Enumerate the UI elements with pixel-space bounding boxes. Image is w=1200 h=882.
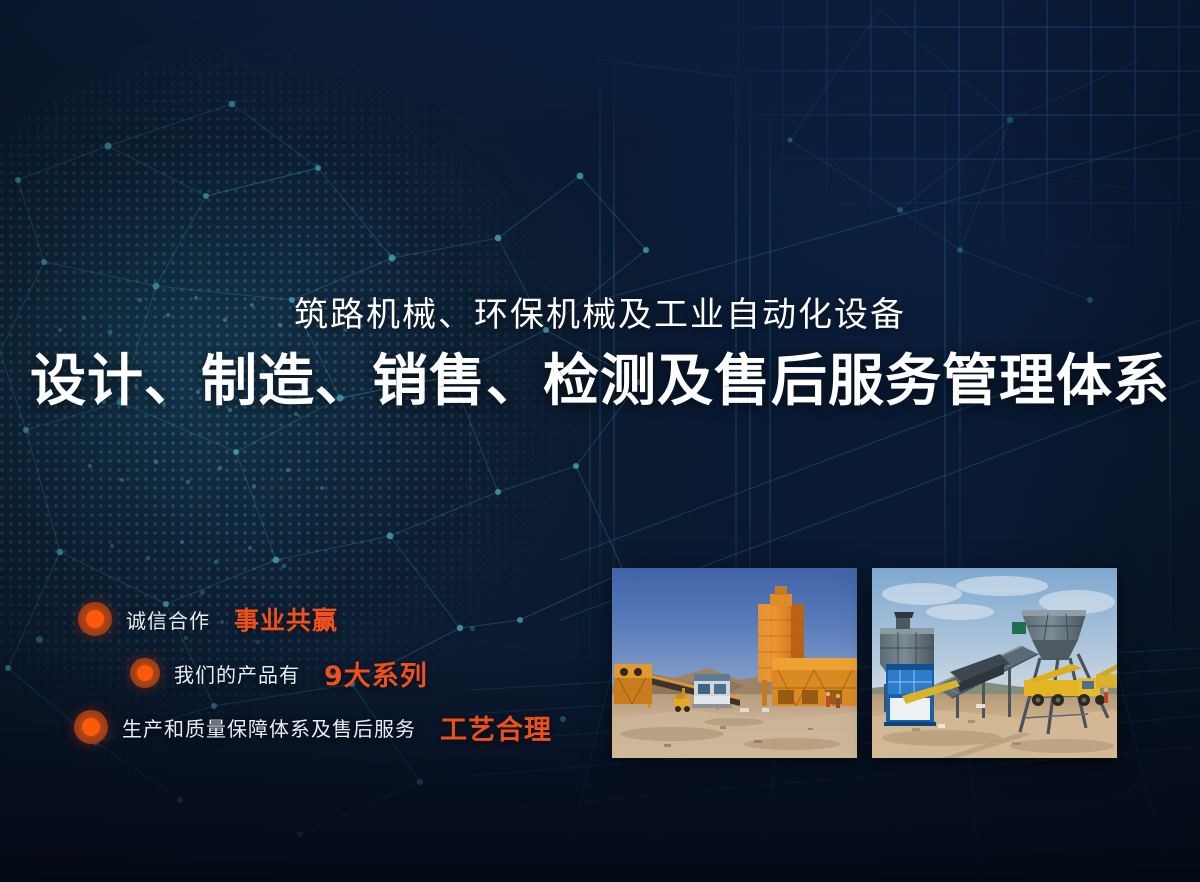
bullet-highlight-3: 工艺合理 xyxy=(440,708,552,747)
subheadline-text: 筑路机械、环保机械及工业自动化设备 xyxy=(0,296,1200,335)
page-title: 设计、制造、销售、检测及售后服务管理体系 xyxy=(0,351,1200,414)
bullet-label-2: 我们的产品有 xyxy=(174,659,300,688)
feature-bullet-list: 诚信合作 事业共赢 我们的产品有 9大系列 生产和质量保障体系及售后服务 工艺合… xyxy=(78,596,598,758)
bullet-dot-icon xyxy=(74,710,108,744)
bullet-highlight-2: 9大系列 xyxy=(324,654,428,693)
headline-block: 筑路机械、环保机械及工业自动化设备 设计、制造、销售、检测及售后服务管理体系 xyxy=(0,296,1200,414)
list-item: 我们的产品有 9大系列 xyxy=(130,650,598,696)
list-item: 诚信合作 事业共赢 xyxy=(78,596,598,642)
bullet-dot-icon xyxy=(130,658,160,688)
mobile-crushing-plant-photo[interactable] xyxy=(872,568,1117,758)
bullet-dot-icon xyxy=(78,602,112,636)
glow-node-icon xyxy=(36,636,43,643)
concrete-batching-plant-photo[interactable] xyxy=(612,568,857,758)
bullet-label-3: 生产和质量保障体系及售后服务 xyxy=(122,713,416,742)
glow-node-icon xyxy=(200,590,205,595)
list-item: 生产和质量保障体系及售后服务 工艺合理 xyxy=(74,704,598,750)
bullet-highlight-1: 事业共赢 xyxy=(234,601,338,637)
photo-gallery xyxy=(612,568,1160,758)
bullet-label-1: 诚信合作 xyxy=(126,605,210,634)
promo-banner: 筑路机械、环保机械及工业自动化设备 设计、制造、销售、检测及售后服务管理体系 诚… xyxy=(0,0,1200,882)
